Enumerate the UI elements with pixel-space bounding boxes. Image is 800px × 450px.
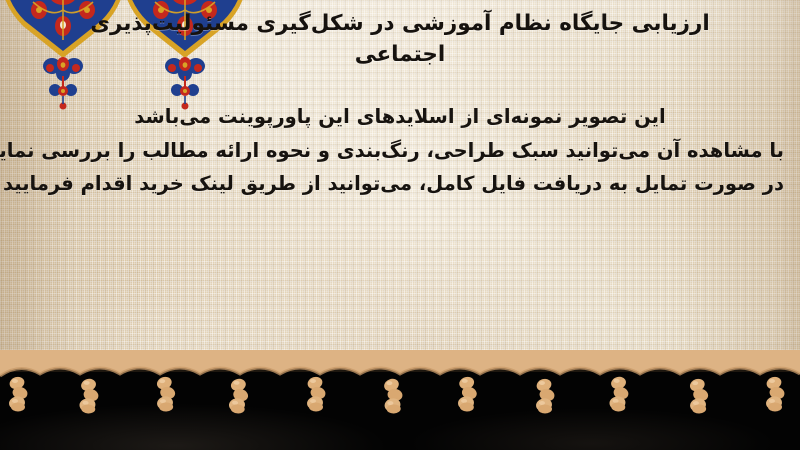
body-line-3: در صورت تمایل به دریافت فایل کامل، می‌تو…	[16, 174, 784, 194]
knotted-tassel-fringe: 0% 45% 100% 0% 55% 100%	[0, 350, 800, 450]
body-line-1: این تصویر نمونه‌ای از اسلایدهای این پاور…	[16, 107, 784, 127]
fringe-rope-edge	[0, 350, 800, 376]
title-line-1: ارزیابی جایگاه نظام آموزشی در شکل‌گیری م…	[20, 9, 780, 40]
body-line-2: با مشاهده آن می‌توانید سبک طراحی، رنگ‌بن…	[16, 141, 784, 161]
tassel-row	[0, 373, 793, 439]
slide-canvas: ارزیابی جایگاه نظام آموزشی در شکل‌گیری م…	[0, 0, 800, 450]
title-line-2: اجتماعی	[20, 40, 780, 71]
page-title: ارزیابی جایگاه نظام آموزشی در شکل‌گیری م…	[20, 9, 780, 70]
body-text-block: این تصویر نمونه‌ای از اسلایدهای این پاور…	[16, 107, 784, 194]
